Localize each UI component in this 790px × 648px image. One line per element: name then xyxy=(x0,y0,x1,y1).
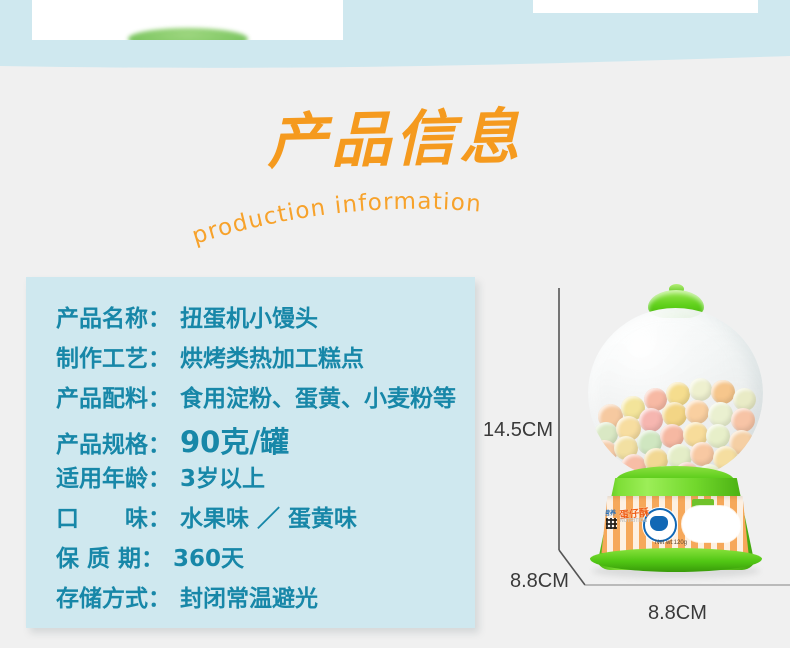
page-title: 产品信息 xyxy=(0,102,790,179)
info-label: 保 质 期： xyxy=(56,539,164,573)
info-row-storage: 存储方式： 封闭常温避光 xyxy=(56,579,475,619)
info-value: 水果味 ／ 蛋黄味 xyxy=(180,499,357,533)
top-product-card-right xyxy=(533,0,758,13)
info-row-shelf-life: 保 质 期： 360天 xyxy=(56,539,475,579)
info-value: 90克/罐 xyxy=(180,419,289,461)
info-label: 适用年龄： xyxy=(56,459,171,493)
info-row-specification: 产品规格： 90克/罐 xyxy=(56,419,475,459)
info-value: 烘烤类热加工糕点 xyxy=(180,339,364,373)
info-value: 360天 xyxy=(173,539,244,573)
info-value: 3岁以上 xyxy=(180,459,265,493)
dimension-depth-label: 8.8CM xyxy=(510,570,569,593)
page-subtitle: production information xyxy=(0,192,790,252)
info-row-age: 适用年龄： 3岁以上 xyxy=(56,459,475,499)
info-label: 制作工艺： xyxy=(56,339,171,373)
info-row-flavor: 口 味： 水果味 ／ 蛋黄味 xyxy=(56,499,475,539)
green-accent-shape xyxy=(128,28,248,40)
info-value: 扭蛋机小馒头 xyxy=(180,299,318,333)
top-decorative-strip xyxy=(0,0,790,90)
info-value: 封闭常温避光 xyxy=(180,579,318,613)
info-label: 存储方式： xyxy=(56,579,171,613)
top-product-card-left xyxy=(32,0,343,40)
dimension-height-label: 14.5CM xyxy=(483,419,553,442)
dimension-width-label: 8.8CM xyxy=(648,602,707,625)
info-label: 口 味： xyxy=(56,499,171,533)
product-info-panel: 产品名称： 扭蛋机小馒头 制作工艺： 烘烤类热加工糕点 产品配料： 食用淀粉、蛋… xyxy=(26,277,475,628)
info-row-process: 制作工艺： 烘烤类热加工糕点 xyxy=(56,339,475,379)
info-label: 产品配料： xyxy=(56,379,171,413)
info-row-product-name: 产品名称： 扭蛋机小馒头 xyxy=(56,299,475,339)
page-subtitle-text: production information xyxy=(189,192,483,250)
info-row-ingredients: 产品配料： 食用淀粉、蛋黄、小麦粉等 xyxy=(56,379,475,419)
info-value: 食用淀粉、蛋黄、小麦粉等 xyxy=(180,379,456,413)
info-label: 产品名称： xyxy=(56,299,171,333)
section-heading: 产品信息 production information xyxy=(0,100,790,250)
dimension-annotations: 14.5CM 8.8CM 8.8CM xyxy=(470,280,790,643)
info-label: 产品规格： xyxy=(56,425,171,459)
